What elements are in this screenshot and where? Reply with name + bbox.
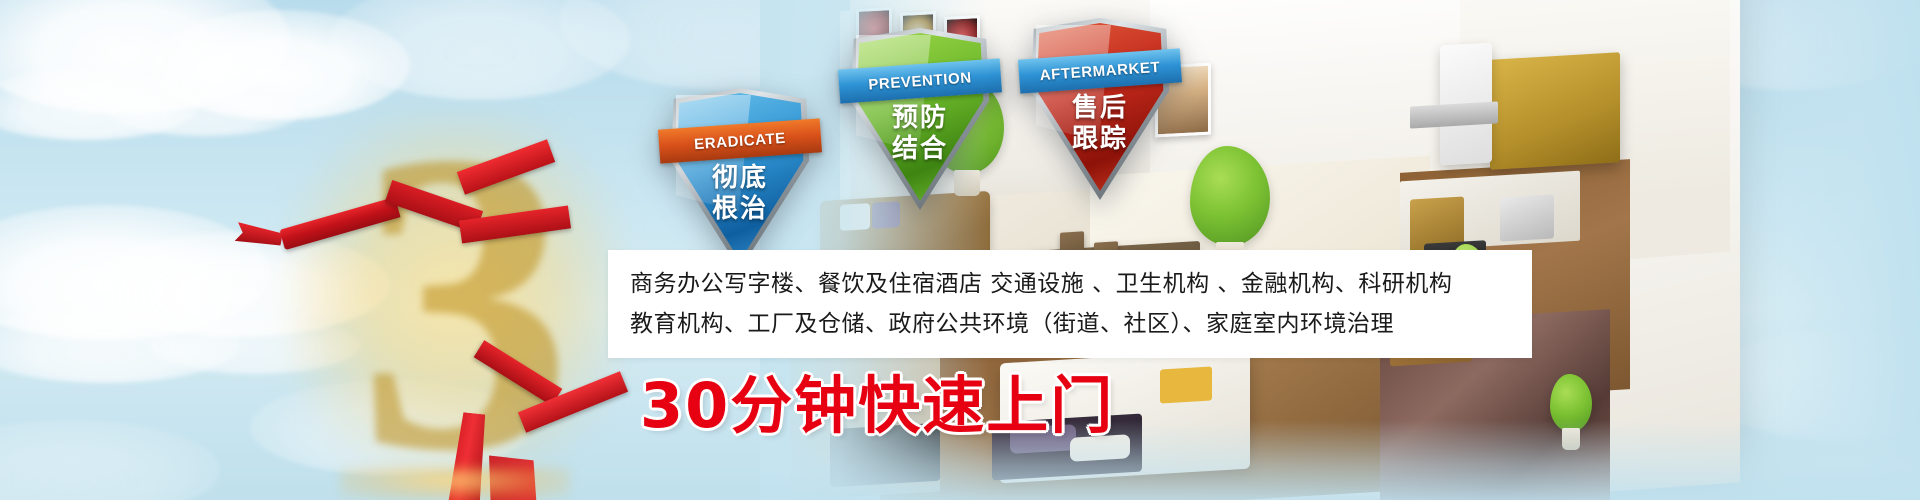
shield-chinese-line1: 彻底 — [668, 162, 812, 193]
service-scope-infobox: 商务办公写字楼、餐饮及住宿酒店 交通设施 、卫生机构 、金融机构、科研机构 教育… — [608, 250, 1532, 358]
shield-badge-aftermarket: 售后 跟踪 AFTERMARKET — [1028, 18, 1172, 200]
shield-chinese-line1: 售后 — [1028, 92, 1172, 123]
shield-chinese-text: 预防 结合 — [848, 102, 992, 164]
promo-banner: 3 3 彻底 根治 ERADICATE 预防 — [0, 0, 1920, 500]
shield-chinese-text: 售后 跟踪 — [1028, 92, 1172, 154]
shield-badge-eradicate: 彻底 根治 ERADICATE — [668, 88, 812, 270]
shield-badge-prevention: 预防 结合 PREVENTION — [848, 28, 992, 210]
shield-chinese-line2: 根治 — [668, 193, 812, 224]
shield-chinese-line1: 预防 — [848, 102, 992, 133]
shield-chinese-line2: 结合 — [848, 133, 992, 164]
shield-chinese-line2: 跟踪 — [1028, 123, 1172, 154]
service-scope-line-2: 教育机构、工厂及仓储、政府公共环境（街道、社区）、家庭室内环境治理 — [630, 304, 1510, 344]
shield-chinese-text: 彻底 根治 — [668, 162, 812, 224]
service-scope-line-1: 商务办公写字楼、餐饮及住宿酒店 交通设施 、卫生机构 、金融机构、科研机构 — [630, 264, 1510, 304]
headline-text: 30分钟快速上门 — [640, 370, 1114, 442]
